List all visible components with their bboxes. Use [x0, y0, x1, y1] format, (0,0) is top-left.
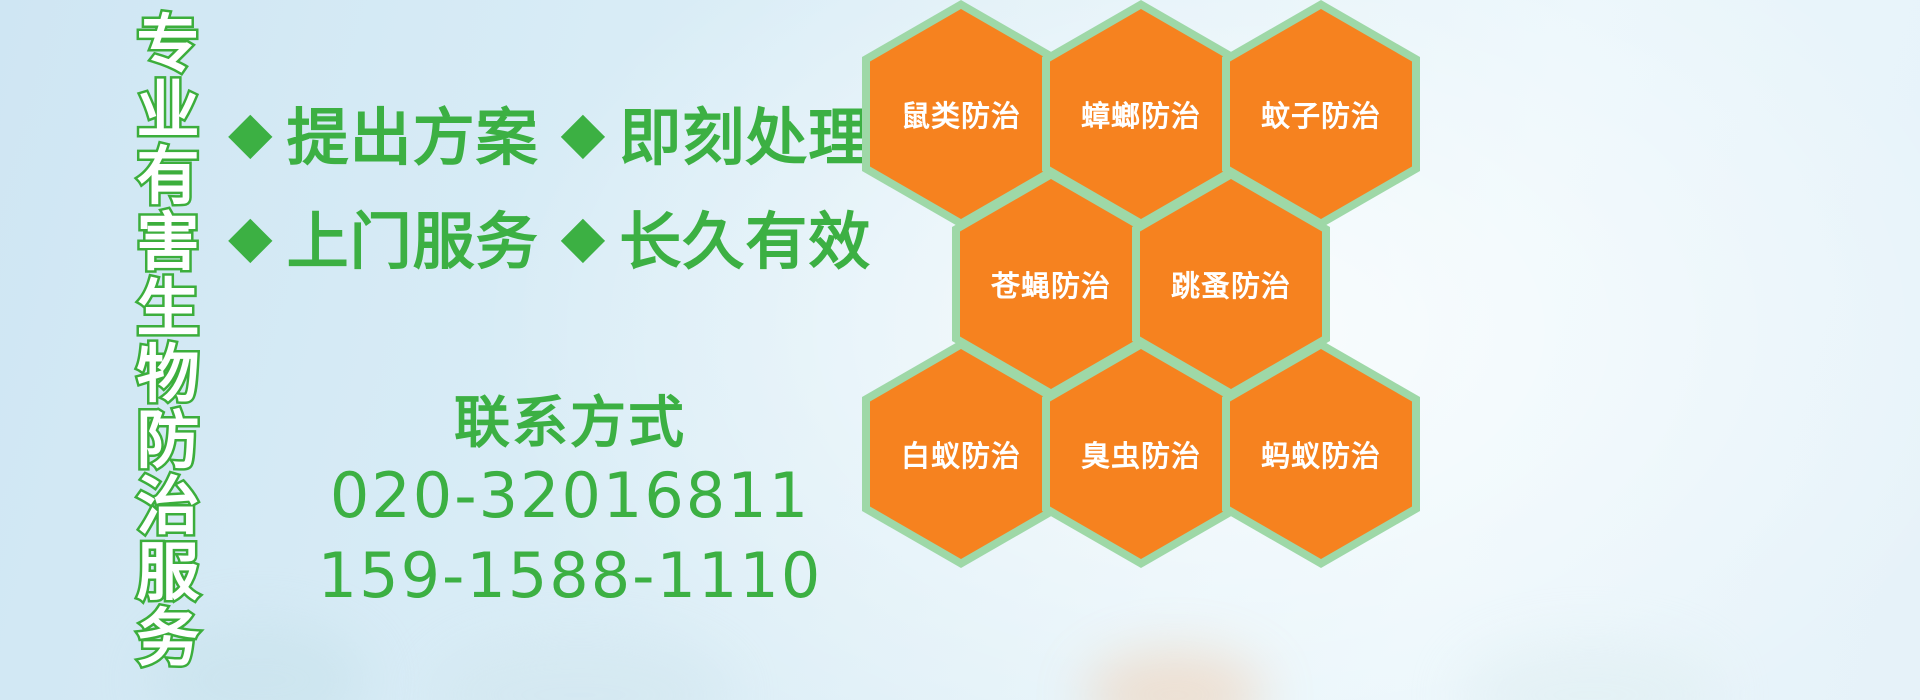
vertical-slogan-char: 物 — [137, 344, 200, 410]
service-hexagon-grid: 鼠类防治 蟑螂防治 蚊子防治 苍蝇防治 跳蚤防治 白蚁防治 臭虫防治 蚂蚁防治 — [862, 0, 1482, 700]
phone-number-mobile[interactable]: 159-1588-1110 — [260, 536, 880, 615]
vertical-slogan-char: 务 — [137, 608, 200, 674]
feature-bullet-row: ◆ 提出方案 ◆ 即刻处理 — [228, 80, 868, 184]
service-label: 蟑螂防治 — [1081, 93, 1201, 135]
background-bokeh-blob — [1460, 640, 1720, 700]
service-label: 臭虫防治 — [1081, 433, 1201, 475]
diamond-bullet-icon: ◆ — [228, 103, 273, 161]
service-hexagon-inner: 白蚁防治 — [870, 349, 1052, 559]
diamond-bullet-icon: ◆ — [561, 103, 606, 161]
pest-control-banner: 专 业 有 害 生 物 防 治 服 务 ◆ 提出方案 ◆ 即刻处理 ◆ 上门服务… — [0, 0, 1920, 700]
vertical-slogan-char: 业 — [137, 80, 200, 146]
service-label: 蚂蚁防治 — [1261, 433, 1381, 475]
diamond-bullet-icon: ◆ — [228, 207, 273, 265]
vertical-slogan-char: 有 — [137, 146, 200, 212]
vertical-slogan-char: 服 — [137, 542, 200, 608]
vertical-slogan: 专 业 有 害 生 物 防 治 服 务 — [112, 14, 224, 690]
feature-label: 长久有效 — [619, 191, 871, 281]
service-label: 白蚁防治 — [901, 433, 1021, 475]
service-label: 跳蚤防治 — [1171, 263, 1291, 305]
contact-block: 联系方式 020-32016811 159-1588-1110 — [260, 392, 880, 615]
feature-label: 上门服务 — [287, 191, 539, 281]
vertical-slogan-char: 专 — [137, 14, 200, 80]
feature-label: 即刻处理 — [619, 87, 871, 177]
feature-bullet-list: ◆ 提出方案 ◆ 即刻处理 ◆ 上门服务 ◆ 长久有效 — [228, 80, 868, 288]
vertical-slogan-char: 防 — [137, 410, 200, 476]
feature-bullet-row: ◆ 上门服务 ◆ 长久有效 — [228, 184, 868, 288]
vertical-slogan-char: 治 — [137, 476, 200, 542]
feature-label: 提出方案 — [287, 87, 539, 177]
background-bokeh-blob — [430, 635, 730, 700]
service-hexagon-inner: 臭虫防治 — [1050, 349, 1232, 559]
service-label: 鼠类防治 — [901, 93, 1021, 135]
service-label: 蚊子防治 — [1261, 93, 1381, 135]
vertical-slogan-char: 生 — [137, 278, 200, 344]
service-label: 苍蝇防治 — [991, 263, 1111, 305]
service-hexagon-inner: 蚂蚁防治 — [1230, 349, 1412, 559]
contact-title: 联系方式 — [260, 392, 880, 456]
diamond-bullet-icon: ◆ — [561, 207, 606, 265]
phone-number-landline[interactable]: 020-32016811 — [260, 456, 880, 535]
vertical-slogan-char: 害 — [137, 212, 200, 278]
